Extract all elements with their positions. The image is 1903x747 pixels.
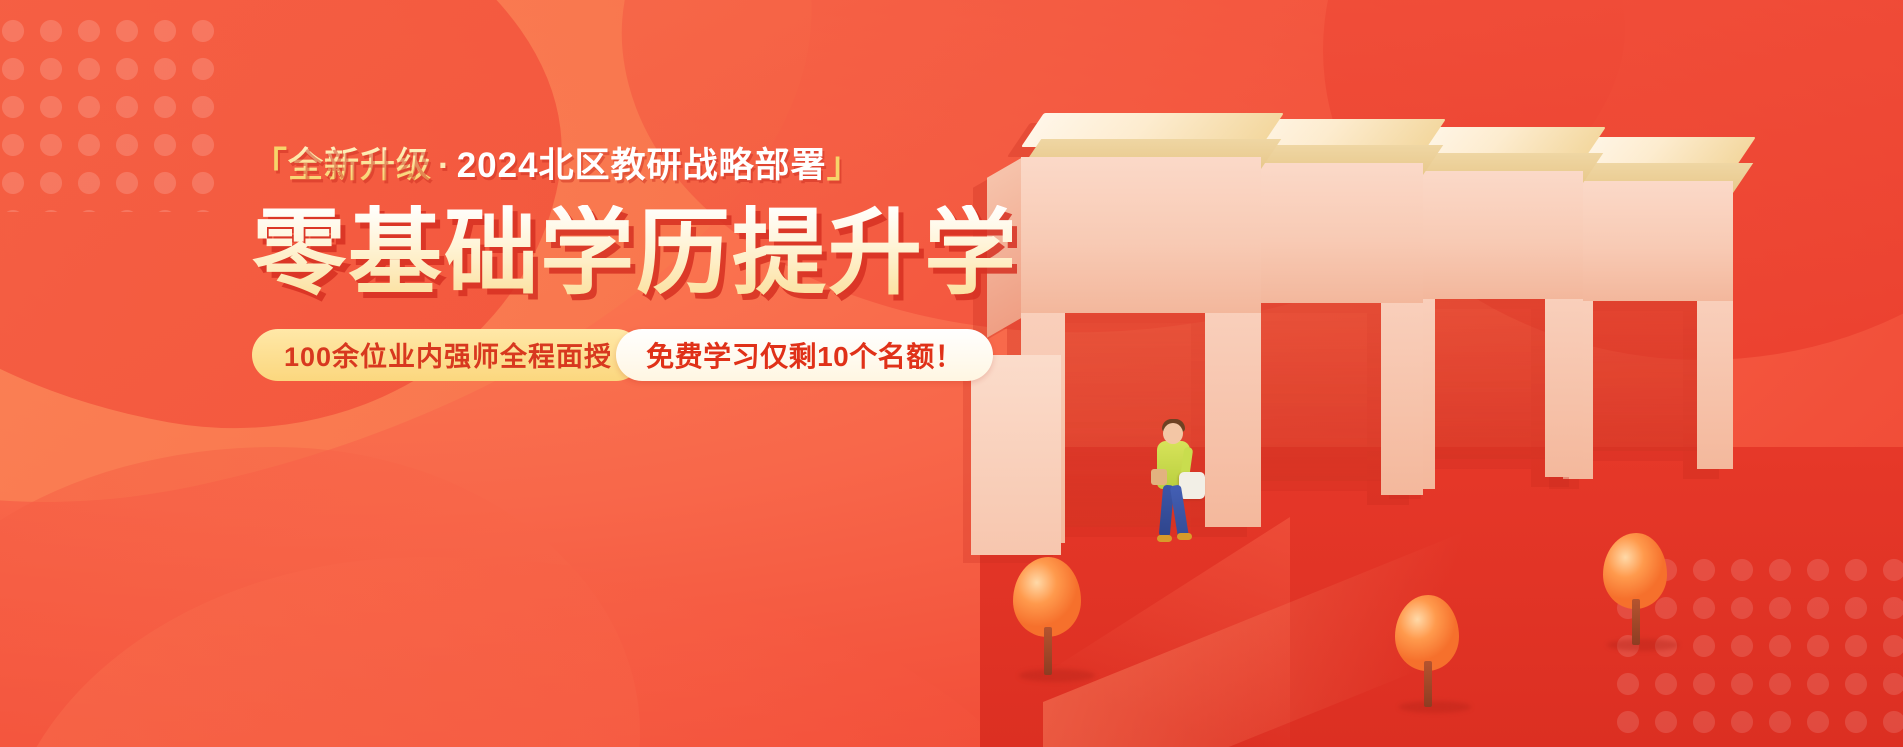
subtitle-white-text: 2024北区教研战略部署 [457, 146, 827, 185]
person-left-shoe [1157, 535, 1172, 542]
pill-instructors[interactable]: 100余位业内强师全程面授 [252, 329, 642, 381]
archway-3 [1403, 127, 1583, 487]
pill-free-quota[interactable]: 免费学习仅剩10个名额！ [616, 329, 993, 381]
person-book [1151, 469, 1167, 485]
banner-subtitle: 「全新升级·2024北区教研战略部署」 [252, 148, 1012, 183]
pill-free-quota-label: 免费学习仅剩10个名额！ [646, 335, 963, 375]
tree-shadow [1019, 669, 1095, 682]
tree-shadow [1399, 701, 1471, 713]
tree-2 [1395, 595, 1465, 719]
tree-trunk [1044, 627, 1052, 675]
tree-1 [1013, 557, 1087, 687]
archway-4 [1563, 137, 1733, 467]
person-right-shoe [1177, 533, 1192, 540]
tree-canopy [1603, 533, 1667, 609]
subtitle-gold-text: 全新升级 [288, 146, 432, 185]
archway-right-pillar [1697, 301, 1733, 469]
dot-grid-top-left-icon [0, 12, 230, 212]
subtitle-separator: · [432, 146, 457, 185]
archway-front-face [1403, 171, 1583, 299]
archway-opening-shadow [1593, 301, 1697, 451]
archway-right-pillar [1205, 313, 1261, 527]
banner-copy: 「全新升级·2024北区教研战略部署」 零基础学历提升学霸班 100余位业内强师… [252, 148, 1012, 381]
bracket-close: 」 [827, 146, 863, 185]
standing-panel [971, 355, 1061, 555]
tree-shadow [1607, 639, 1679, 651]
banner-pill-row: 100余位业内强师全程面授 免费学习仅剩10个名额！ [252, 329, 1012, 381]
tree-canopy [1013, 557, 1081, 637]
person-student-walking [1153, 417, 1213, 547]
bracket-open: 「 [252, 146, 288, 185]
promo-banner: 「全新升级·2024北区教研战略部署」 零基础学历提升学霸班 100余位业内强师… [0, 0, 1903, 747]
archway-front-face [1563, 181, 1733, 301]
archway-opening-shadow [1259, 303, 1381, 481]
person-shoulder-bag [1179, 472, 1205, 499]
archway-opening-shadow [1435, 299, 1545, 459]
banner-headline: 零基础学历提升学霸班 [252, 205, 1012, 301]
archway-right-pillar [1545, 299, 1583, 477]
tree-canopy [1395, 595, 1459, 671]
tree-3 [1603, 533, 1673, 657]
tree-trunk [1632, 599, 1640, 645]
person-head [1163, 423, 1183, 444]
tree-trunk [1424, 661, 1432, 707]
archway-right-pillar [1381, 303, 1423, 495]
pill-instructors-label: 100余位业内强师全程面授 [284, 335, 612, 374]
